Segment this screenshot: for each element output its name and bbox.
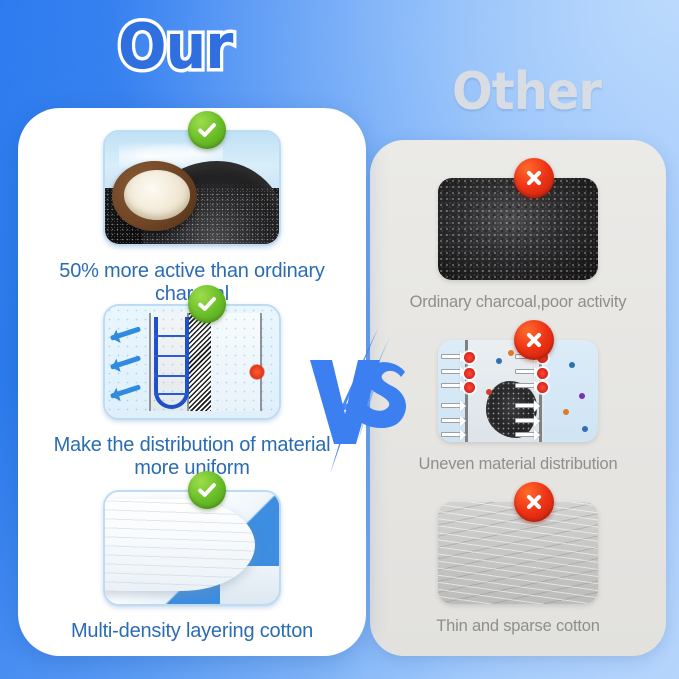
other-feature-row-3: Thin and sparse cotton [370, 502, 666, 636]
cross-icon [514, 482, 554, 522]
vs-badge [306, 326, 416, 476]
thin-sparse-cotton-image [438, 502, 598, 604]
cross-icon [514, 320, 554, 360]
other-feature-caption-3: Thin and sparse cotton [370, 617, 666, 636]
filter-distribution-diagram-image [103, 304, 281, 420]
check-icon [188, 471, 226, 509]
other-title: Other [452, 66, 601, 118]
uneven-distribution-diagram-image [438, 340, 598, 442]
our-thumb-wrap-1 [103, 130, 281, 246]
other-thumb-wrap-1 [438, 178, 598, 280]
ordinary-charcoal-image [438, 178, 598, 280]
coconut-charcoal-image [103, 130, 281, 246]
other-feature-row-1: Ordinary charcoal,poor activity [370, 178, 666, 312]
our-thumb-wrap-2 [103, 304, 281, 420]
cross-icon [514, 158, 554, 198]
our-title: Our [118, 16, 232, 78]
our-feature-row-3: Multi-density layering cotton [18, 490, 366, 643]
check-icon [188, 285, 226, 323]
our-feature-row-1: 50% more active than ordinary charcoal [18, 130, 366, 306]
our-thumb-wrap-3 [103, 490, 281, 606]
check-icon [188, 111, 226, 149]
comparison-infographic: Our Other 50% [0, 0, 679, 679]
other-feature-caption-1: Ordinary charcoal,poor activity [370, 293, 666, 312]
multi-density-cotton-image [103, 490, 281, 606]
our-feature-caption-3: Multi-density layering cotton [18, 620, 366, 643]
other-thumb-wrap-3 [438, 502, 598, 604]
other-thumb-wrap-2 [438, 340, 598, 442]
